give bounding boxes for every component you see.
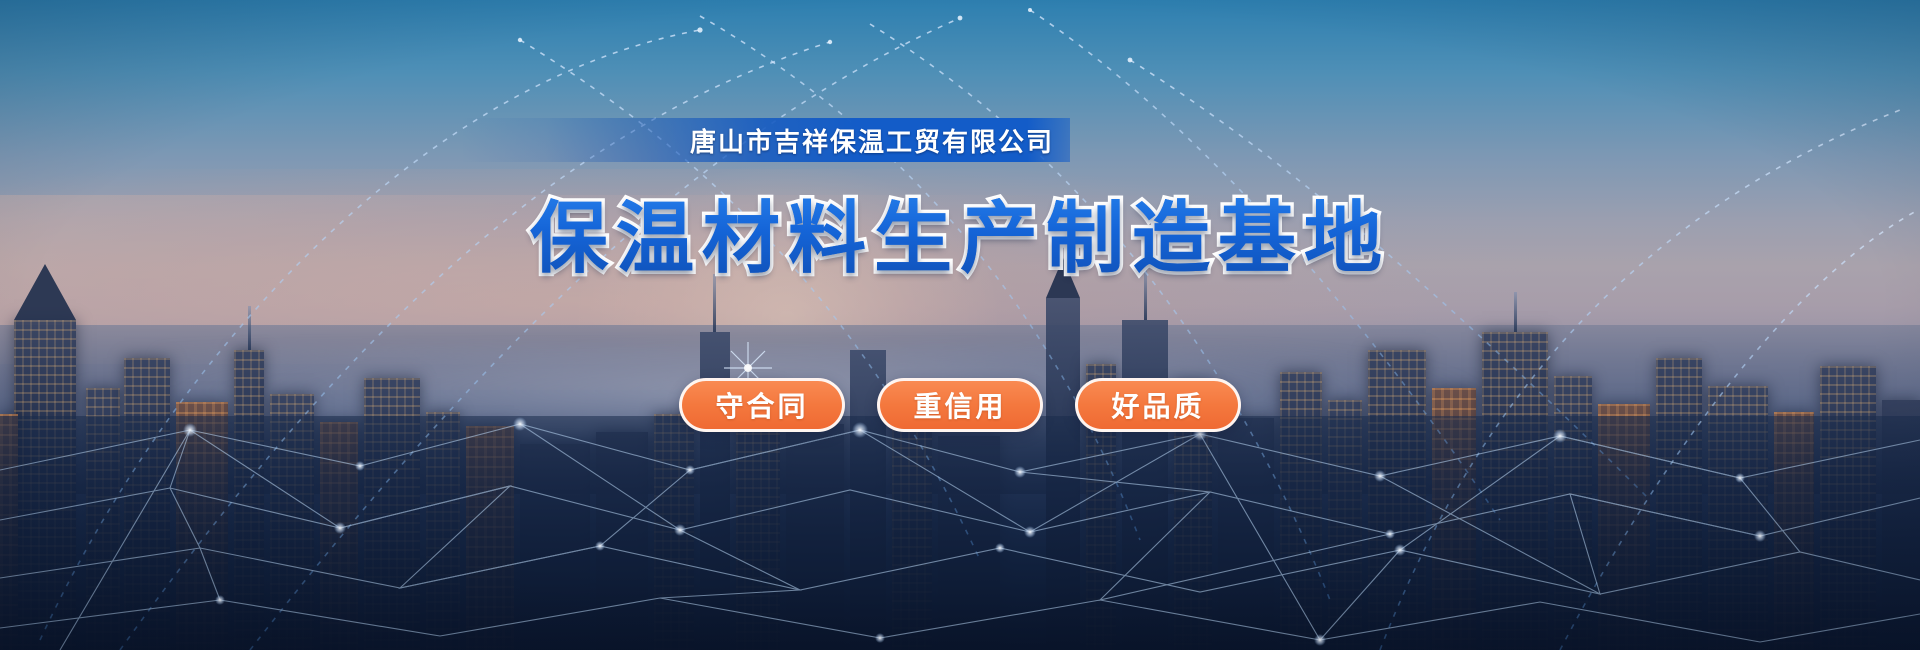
slogan-pill-2-label: 重信用 xyxy=(913,385,1006,425)
company-name-text: 唐山市吉祥保温工贸有限公司 xyxy=(690,122,1070,159)
banner-content: 唐山市吉祥保温工贸有限公司 保温材料生产制造基地 保温材料生产制造基地 守合同 … xyxy=(0,0,1920,650)
slogan-pill-3-label: 好品质 xyxy=(1111,385,1204,425)
slogan-pill-1-label: 守合同 xyxy=(715,385,808,425)
hero-banner: 唐山市吉祥保温工贸有限公司 保温材料生产制造基地 保温材料生产制造基地 守合同 … xyxy=(0,0,1920,650)
company-name-band: 唐山市吉祥保温工贸有限公司 xyxy=(460,118,1070,162)
slogan-pill-3[interactable]: 好品质 xyxy=(1075,378,1241,432)
headline-block: 保温材料生产制造基地 保温材料生产制造基地 xyxy=(0,176,1920,288)
slogan-pill-row: 守合同 重信用 好品质 xyxy=(0,378,1920,432)
slogan-pill-1[interactable]: 守合同 xyxy=(679,378,845,432)
headline-text: 保温材料生产制造基地 xyxy=(530,176,1390,288)
slogan-pill-2[interactable]: 重信用 xyxy=(877,378,1043,432)
headline-wrap: 保温材料生产制造基地 保温材料生产制造基地 xyxy=(530,176,1390,288)
